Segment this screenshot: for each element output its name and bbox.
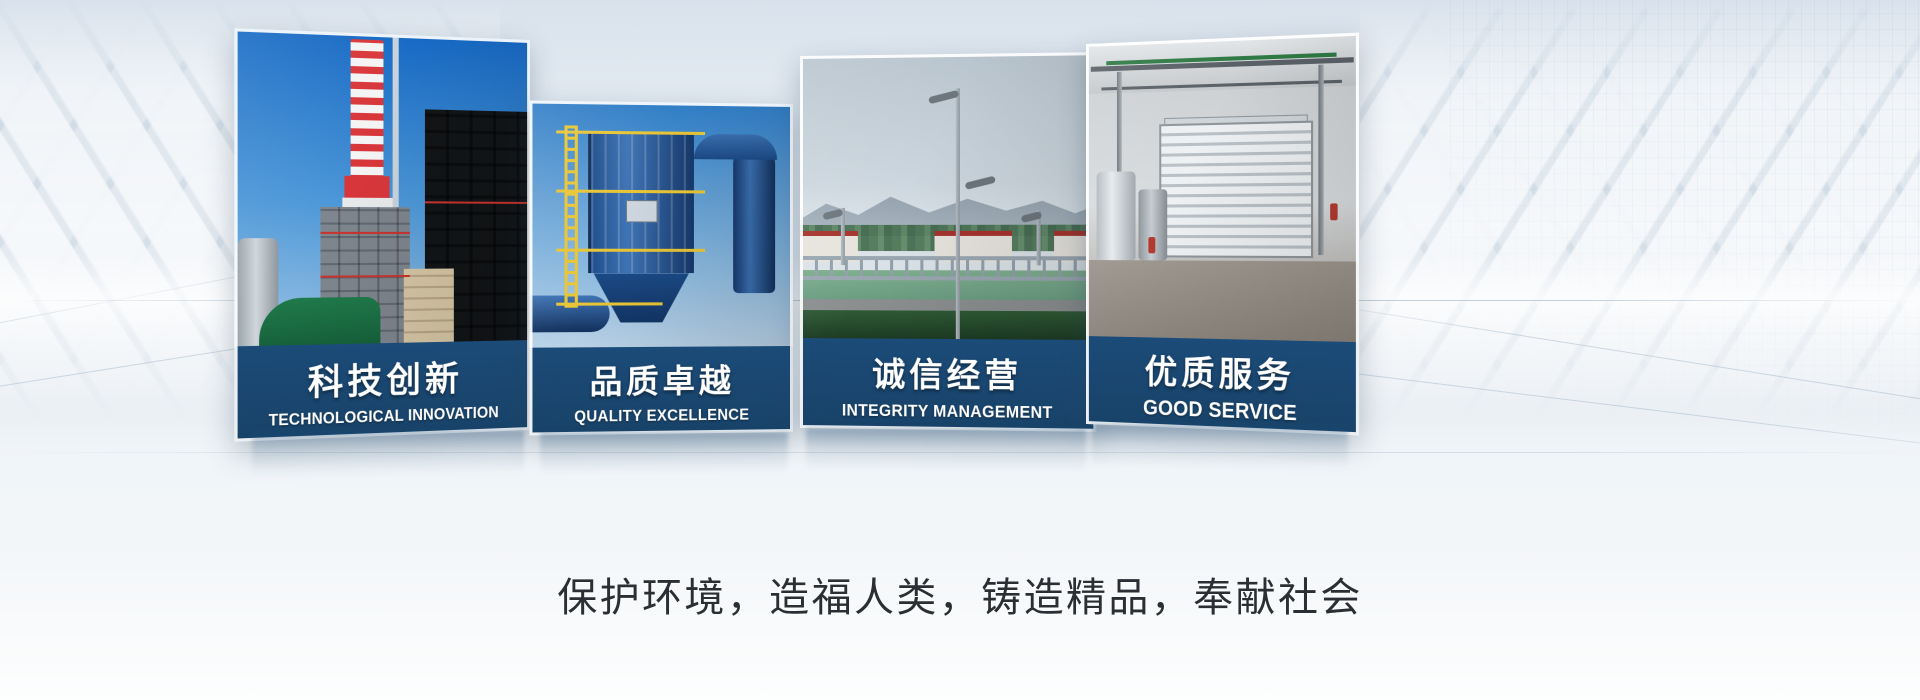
culture-panel-technological-innovation[interactable]: 科技创新 TECHNOLOGICAL INNOVATION <box>234 28 530 442</box>
panel-reflection <box>1092 424 1348 468</box>
panel-photo-integrity-management <box>800 52 1096 340</box>
panel-en-subtitle: QUALITY EXCELLENCE <box>574 406 749 426</box>
culture-panel-good-service[interactable]: 优质服务 GOOD SERVICE <box>1086 33 1359 436</box>
panel-photo-technological-innovation <box>234 28 530 346</box>
panel-en-subtitle: INTEGRITY MANAGEMENT <box>842 400 1053 423</box>
panel-cn-title: 品质卓越 <box>589 355 734 403</box>
panel-caption-quality-excellence: 品质卓越 QUALITY EXCELLENCE <box>529 346 793 436</box>
panel-cn-title: 科技创新 <box>308 351 463 406</box>
panel-photo-good-service <box>1086 33 1359 343</box>
panel-en-subtitle: TECHNOLOGICAL INNOVATION <box>269 404 499 431</box>
panel-cn-title: 诚信经营 <box>872 347 1022 397</box>
panel-caption-integrity-management: 诚信经营 INTEGRITY MANAGEMENT <box>800 338 1096 432</box>
panel-caption-technological-innovation: 科技创新 TECHNOLOGICAL INNOVATION <box>234 340 530 442</box>
panel-caption-good-service: 优质服务 GOOD SERVICE <box>1086 336 1359 435</box>
background-building-grid <box>1450 0 1920 430</box>
panel-photo-quality-excellence <box>529 100 793 347</box>
panel-cn-title: 优质服务 <box>1144 344 1295 398</box>
culture-panel-quality-excellence[interactable]: 品质卓越 QUALITY EXCELLENCE <box>529 100 793 435</box>
panel-reflection <box>252 430 524 476</box>
banner-tagline: 保护环境，造福人类，铸造精品，奉献社会 <box>0 565 1920 623</box>
panel-reflection <box>806 428 1086 472</box>
company-culture-banner: 科技创新 TECHNOLOGICAL INNOVATION <box>0 0 1920 700</box>
panel-reflection <box>540 432 788 474</box>
panel-en-subtitle: GOOD SERVICE <box>1143 395 1297 426</box>
culture-panel-integrity-management[interactable]: 诚信经营 INTEGRITY MANAGEMENT <box>800 52 1096 432</box>
